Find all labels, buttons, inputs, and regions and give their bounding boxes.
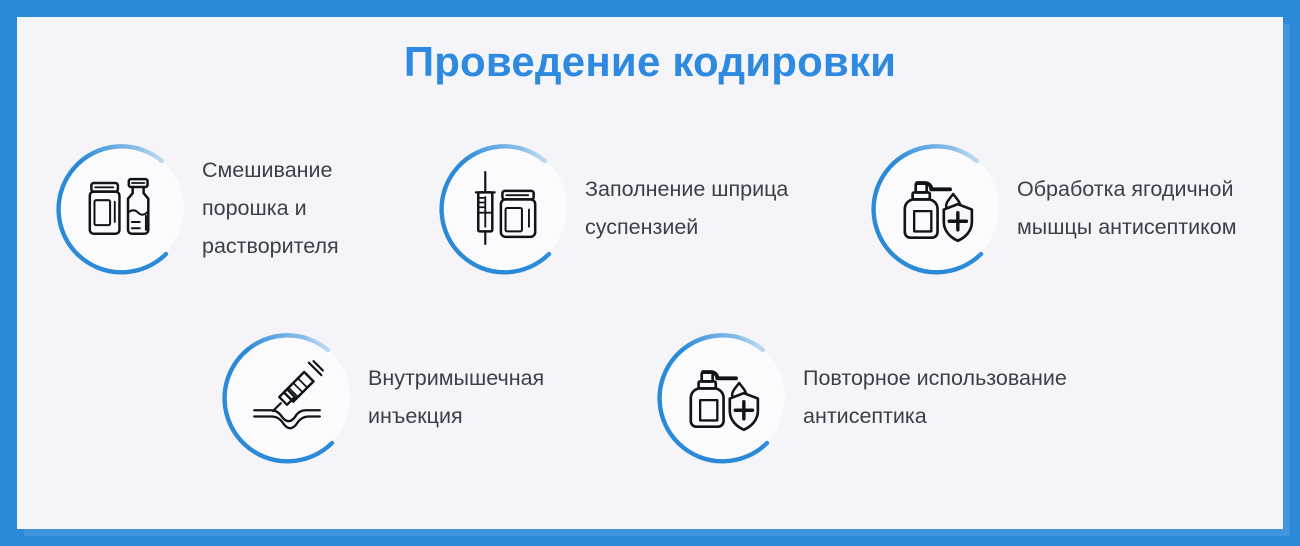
antiseptic-dispenser-shield-icon — [683, 358, 761, 436]
step-4-circle — [220, 330, 354, 464]
step-item-1: Смешивание порошка и растворителя — [54, 141, 382, 275]
step-item-4: Внутримышечная инъекция — [220, 330, 598, 464]
page-title: Проведение кодировки — [0, 38, 1300, 86]
step-5-circle — [655, 330, 789, 464]
step-2-circle — [437, 141, 571, 275]
infographic-poster: Проведение кодировки — [0, 0, 1300, 546]
antiseptic-dispenser-shield-icon — [897, 169, 975, 247]
step-item-3: Обработка ягодичной мышцы антисептиком — [869, 141, 1287, 275]
powder-and-solvent-vials-icon — [82, 169, 160, 247]
step-item-2: Заполнение шприца суспензией — [437, 141, 835, 275]
step-5-label: Повторное использование антисептика — [803, 359, 1123, 435]
step-2-label: Заполнение шприца суспензией — [585, 170, 835, 246]
step-1-label: Смешивание порошка и растворителя — [202, 151, 382, 265]
step-3-circle — [869, 141, 1003, 275]
intramuscular-injection-icon — [248, 358, 326, 436]
step-item-5: Повторное использование антисептика — [655, 330, 1123, 464]
step-3-label: Обработка ягодичной мышцы антисептиком — [1017, 170, 1287, 246]
step-1-circle — [54, 141, 188, 275]
syringe-and-vial-icon — [465, 169, 543, 247]
step-4-label: Внутримышечная инъекция — [368, 359, 598, 435]
